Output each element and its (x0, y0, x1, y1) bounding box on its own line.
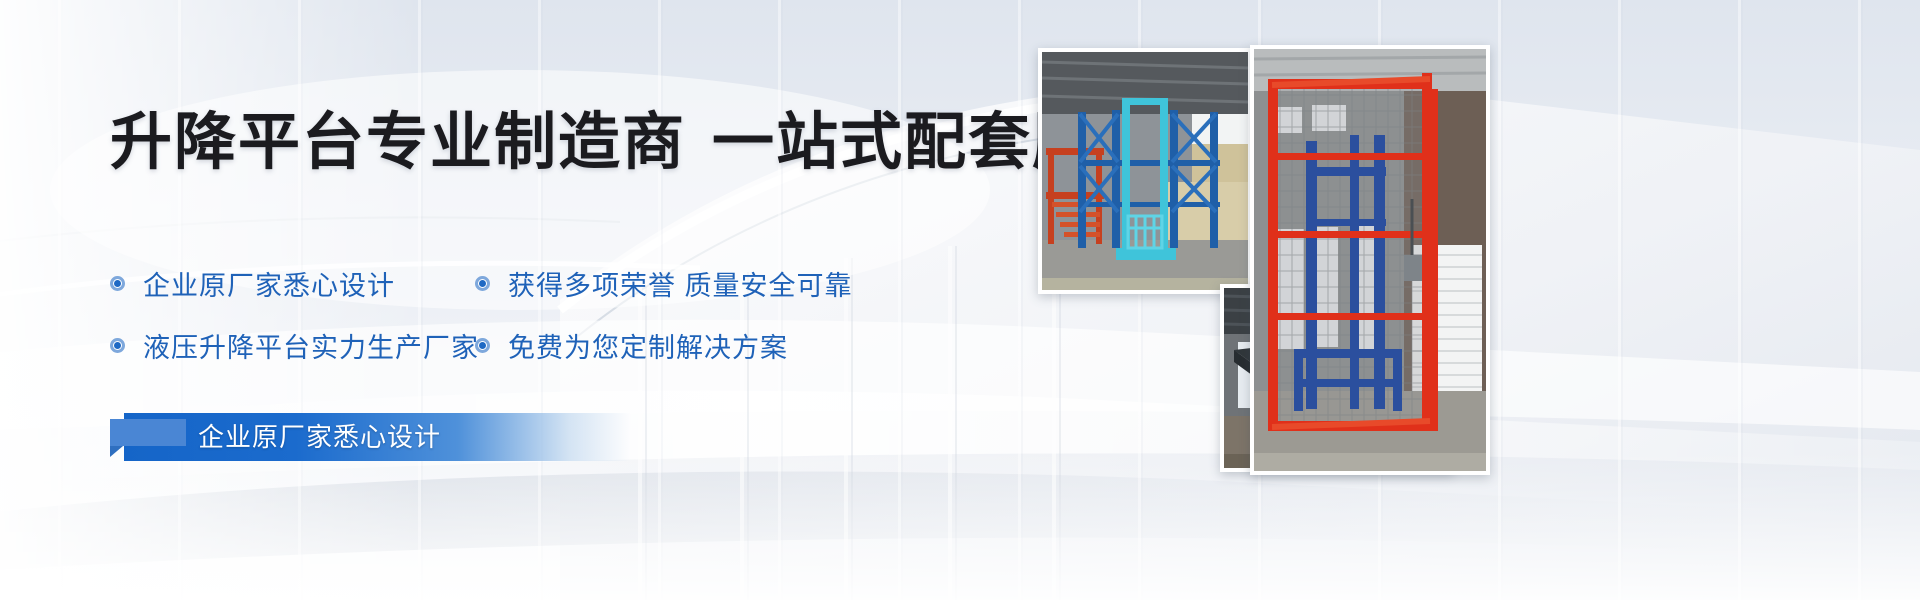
headline-part-1: 升降平台专业制造商 (110, 108, 686, 177)
feature-bullet-list: 企业原厂家悉心设计 获得多项荣誉 质量安全可靠 液压升降平台实力生产厂家 免费为… (110, 252, 990, 376)
bullet-label: 企业原厂家悉心设计 (143, 264, 395, 303)
bullet-item-2: 获得多项荣誉 质量安全可靠 (475, 264, 853, 303)
bullet-row: 液压升降平台实力生产厂家 免费为您定制解决方案 (110, 314, 990, 376)
bullet-label: 获得多项荣誉 质量安全可靠 (508, 264, 853, 303)
bullet-label: 液压升降平台实力生产厂家 (143, 326, 479, 365)
promotional-banner: 升降平台专业制造商一站式配套服务 企业原厂家悉心设计 获得多项荣誉 质量安全可靠… (0, 0, 1920, 600)
bullet-item-1: 企业原厂家悉心设计 (110, 264, 475, 303)
ribbon-tab-icon (110, 419, 186, 446)
bullet-dot-icon (475, 338, 490, 353)
bullet-item-3: 液压升降平台实力生产厂家 (110, 326, 475, 365)
ribbon-label: 企业原厂家悉心设计 (198, 413, 441, 461)
photo-cage-lift (1250, 45, 1490, 475)
banner-text-content: 升降平台专业制造商一站式配套服务 企业原厂家悉心设计 获得多项荣誉 质量安全可靠… (0, 0, 1030, 600)
highlight-ribbon: 企业原厂家悉心设计 (110, 413, 630, 461)
product-photo-collage (1030, 0, 1920, 600)
cage-lift-illustration (1254, 49, 1486, 471)
bullet-dot-icon (110, 338, 125, 353)
warehouse-lift-illustration (1042, 52, 1248, 290)
bullet-item-4: 免费为您定制解决方案 (475, 326, 788, 365)
photo-warehouse-lift (1038, 48, 1252, 294)
bullet-dot-icon (475, 276, 490, 291)
bullet-label: 免费为您定制解决方案 (508, 326, 788, 365)
banner-headline: 升降平台专业制造商一站式配套服务 (110, 108, 1160, 178)
bullet-dot-icon (110, 276, 125, 291)
bullet-row: 企业原厂家悉心设计 获得多项荣誉 质量安全可靠 (110, 252, 990, 314)
